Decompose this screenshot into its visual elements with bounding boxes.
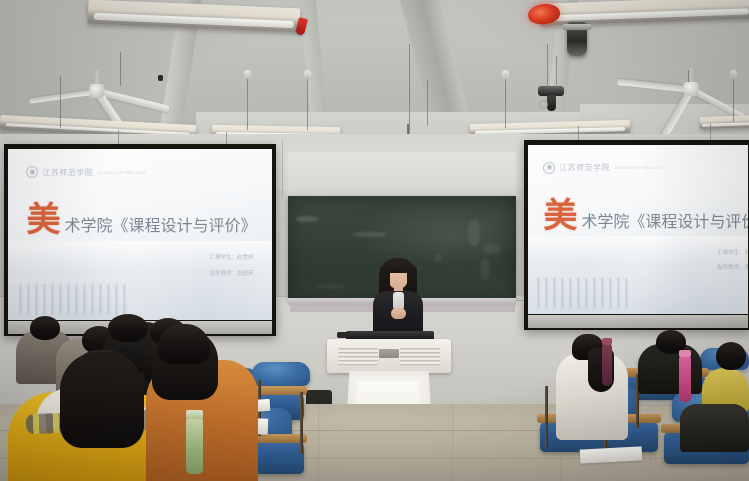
control-plate[interactable] (379, 349, 399, 358)
hanging-camera-rig (538, 86, 564, 112)
slide-title-row: 美 术学院《课程设计与评价》 (26, 205, 256, 236)
presenter-hands (391, 308, 406, 319)
furniture-leg (545, 386, 548, 448)
hanging-wire (60, 76, 61, 128)
fluorescent-tube-6 (700, 115, 749, 129)
fan-hub (89, 84, 104, 98)
slide-subtitle-2: 指导教师：张超英 (210, 269, 254, 277)
wire-fitting (502, 70, 509, 79)
slide-institution-en: ACADEMY OF FINE ARTS (97, 170, 145, 175)
fan-hub (683, 82, 698, 96)
hanging-wire (556, 56, 557, 88)
hanging-wire (733, 72, 734, 122)
slide-subtitle-2: 指导教师：张超英 (717, 263, 748, 271)
student-head (108, 314, 148, 342)
dark-thermos[interactable] (602, 344, 612, 386)
student-head (30, 316, 60, 340)
hanging-wire (505, 72, 506, 128)
wire-fitting (244, 70, 251, 79)
ceiling-sensor-icon (158, 75, 163, 81)
slide-content: ◉ 江苏师范学院 ACADEMY OF FINE ARTS 美 术学院《课程设计… (528, 145, 748, 314)
left-screen-surface: ◉ 江苏师范学院 ACADEMY OF FINE ARTS 美 术学院《课程设计… (8, 149, 272, 320)
right-projection-screen: ◉ 江苏师范学院 ACADEMY OF FINE ARTS 美 术学院《课程设计… (524, 140, 749, 330)
wall-seam (282, 140, 283, 198)
hanging-wire (120, 52, 121, 86)
slide-logo-row: ◉ 江苏师范学院 ACADEMY OF FINE ARTS (543, 162, 662, 174)
wire-fitting (730, 70, 737, 79)
left-projection-screen: ◉ 江苏师范学院 ACADEMY OF FINE ARTS 美 术学院《课程设计… (4, 144, 276, 336)
slide-title-row: 美 术学院《课程设计与评价》 (543, 201, 748, 232)
slide-title-accent: 美 (26, 205, 60, 236)
student-head (158, 324, 210, 364)
slide-subtitle-1: 汇报学生：赵雪婷 (717, 248, 748, 256)
board-upper-wall (288, 152, 517, 200)
slide-content: ◉ 江苏师范学院 ACADEMY OF FINE ARTS 美 术学院《课程设计… (8, 149, 272, 320)
slide-title-accent: 美 (543, 201, 577, 232)
slide-institution-en: ACADEMY OF FINE ARTS (614, 165, 662, 170)
hanging-wire (307, 72, 308, 130)
slide-institution-cn: 江苏师范学院 (559, 162, 610, 173)
ceiling-projector-mount (567, 22, 587, 56)
slide-subtitle-1: 汇报学生：赵雪婷 (210, 253, 254, 261)
student-dark-jacket (680, 404, 749, 452)
wire-fitting (304, 70, 311, 79)
hanging-wire (427, 80, 428, 126)
screen-bottom-bar (528, 315, 748, 328)
hanging-wire (547, 44, 548, 88)
slide-title-rest: 术学院《课程设计与评价》 (64, 218, 256, 234)
slide-title-rest: 术学院《课程设计与评价》 (581, 214, 748, 230)
circle-emblem-icon: ◉ (26, 166, 38, 178)
furniture-leg (300, 392, 303, 454)
circle-emblem-icon: ◉ (543, 162, 555, 174)
lectern-vent (338, 348, 378, 366)
slide-institution-cn: 江苏师范学院 (42, 167, 93, 178)
hanging-wire (247, 72, 248, 130)
slide-logo-row: ◉ 江苏师范学院 ACADEMY OF FINE ARTS (26, 166, 145, 178)
slide-background-photo (528, 236, 748, 314)
lectern-top (327, 339, 451, 373)
classroom-scene: ◉ 江苏师范学院 ACADEMY OF FINE ARTS 美 术学院《课程设计… (0, 0, 749, 481)
hanging-wire (409, 44, 410, 142)
student-head (716, 342, 746, 370)
lectern-vent (400, 348, 440, 366)
right-screen-surface: ◉ 江苏师范学院 ACADEMY OF FINE ARTS 美 术学院《课程设计… (528, 145, 748, 314)
green-thermos[interactable] (186, 418, 203, 474)
student-long-hair (60, 352, 144, 448)
pink-thermos[interactable] (679, 356, 691, 402)
